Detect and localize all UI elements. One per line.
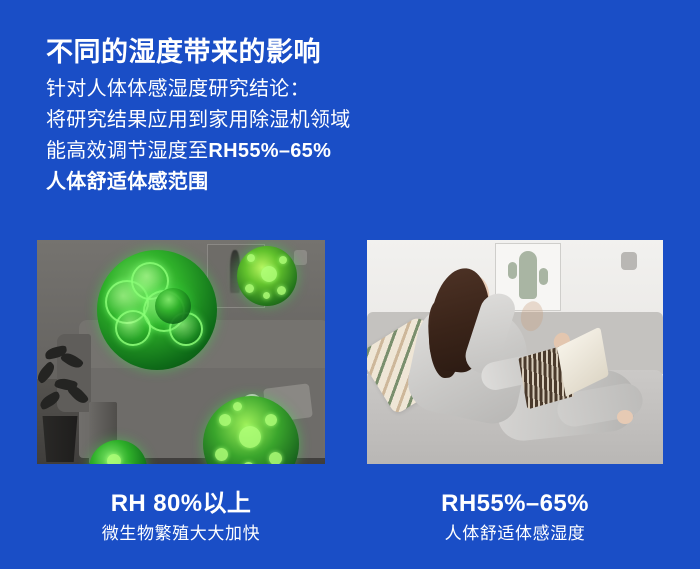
plant-pot: [41, 416, 79, 462]
microbe-spike: [265, 414, 277, 426]
plant-leaf: [67, 383, 90, 407]
plant-leaf: [38, 390, 63, 410]
caption-comfort-humidity: RH55%–65% 人体舒适体感湿度: [367, 488, 663, 547]
foot: [617, 410, 633, 424]
potted-plant: [37, 338, 97, 462]
microbe-spike: [279, 256, 287, 264]
body-copy-line-2: 将研究结果应用到家用除湿机领域: [46, 105, 506, 136]
caption-sub-text: 微生物繁殖大大加快: [37, 520, 325, 547]
microbe-spike: [269, 452, 282, 464]
microbe-core: [107, 454, 121, 464]
microbe-spike: [233, 402, 242, 411]
wall-speaker: [621, 252, 637, 270]
microbe-spike: [243, 462, 254, 464]
page-title: 不同的湿度带来的影响: [46, 32, 321, 72]
caption-high-humidity: RH 80%以上 微生物繁殖大大加快: [37, 488, 325, 547]
microbe-cell: [115, 310, 151, 346]
dim-living-room-illustration: [37, 240, 325, 464]
microbe-spike: [215, 448, 228, 461]
microbe-spike: [245, 284, 254, 293]
microbe-cluster-tiny: [155, 288, 191, 324]
caption-main-text: RH55%–65%: [367, 488, 663, 520]
body-copy-line-1: 针对人体体感湿度研究结论：: [46, 74, 506, 105]
microbe-spike: [277, 286, 286, 295]
microbe-core: [239, 426, 261, 448]
microbe-spike: [263, 292, 270, 299]
caption-row: RH 80%以上 微生物繁殖大大加快 RH55%–65% 人体舒适体感湿度: [0, 488, 700, 568]
face-shadow: [519, 300, 546, 333]
microbe-cluster-small: [237, 246, 297, 306]
microbe-spike: [247, 254, 255, 262]
body-copy-line-4: 人体舒适体感范围: [46, 167, 506, 198]
microbe-spike: [219, 414, 231, 426]
body-copy-line-3: 能高效调节湿度至RH55%–65%: [46, 136, 506, 167]
promo-page: 不同的湿度带来的影响 针对人体体感湿度研究结论： 将研究结果应用到家用除湿机领域…: [0, 0, 700, 569]
photo-comfort-humidity: [367, 240, 663, 464]
microbe-core: [261, 266, 277, 282]
book-page-right: [557, 326, 609, 396]
humidity-range-emphasis: RH55%–65%: [208, 140, 331, 162]
wall-knob: [294, 250, 307, 265]
bright-living-room-illustration: [367, 240, 663, 464]
woman-reading: [389, 270, 629, 452]
comparison-photo-row: [0, 240, 700, 464]
photo-high-humidity: [37, 240, 325, 464]
body-copy-block: 针对人体体感湿度研究结论： 将研究结果应用到家用除湿机领域 能高效调节湿度至RH…: [46, 74, 506, 198]
caption-sub-text: 人体舒适体感湿度: [367, 520, 663, 547]
caption-main-text: RH 80%以上: [37, 488, 325, 520]
body-copy-line-3-prefix: 能高效调节湿度至: [46, 140, 208, 162]
